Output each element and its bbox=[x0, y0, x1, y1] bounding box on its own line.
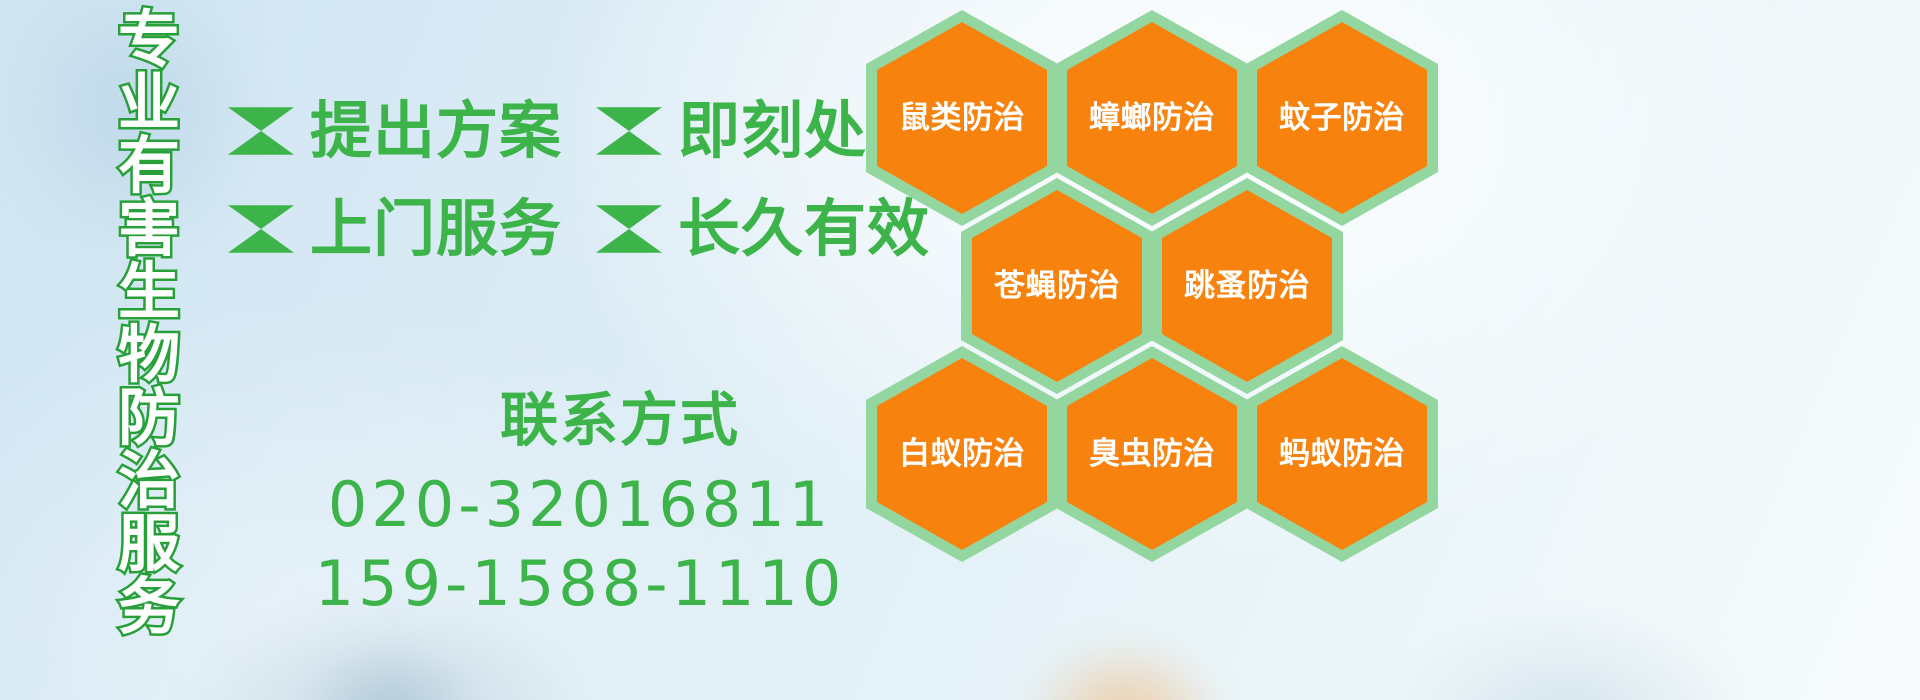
vertical-headline-char-9: 服 bbox=[118, 512, 180, 575]
vertical-headline-char-7: 防 bbox=[118, 386, 180, 449]
feature-row-2: 上门服务 长久有效 bbox=[228, 180, 868, 278]
hex-label: 蚂蚁防治 bbox=[1279, 439, 1405, 470]
feature-label: 提出方案 bbox=[310, 100, 562, 162]
service-honeycomb: 鼠类防治 蟑螂防治 蚊子防治 苍蝇防治 跳蚤防治 bbox=[862, 0, 1462, 700]
hex-cell-bedbug[interactable]: 臭虫防治 bbox=[1056, 346, 1248, 562]
feature-list: 提出方案 即刻处理 上门服务 长久有效 bbox=[228, 82, 868, 278]
hex-label: 鼠类防治 bbox=[899, 103, 1025, 134]
vertical-headline-char-3: 有 bbox=[118, 134, 180, 197]
hex-label: 苍蝇防治 bbox=[994, 271, 1120, 302]
hex-label: 蚊子防治 bbox=[1279, 103, 1405, 134]
contact-block: 联系方式 020-32016811 159-1588-1110 bbox=[300, 390, 860, 624]
diamond-bullet-icon bbox=[228, 107, 294, 155]
hex-label: 臭虫防治 bbox=[1089, 439, 1215, 470]
feature-item-proposal: 提出方案 bbox=[228, 98, 562, 164]
background-haze-bottom-left-2 bbox=[300, 640, 480, 700]
diamond-bullet-icon bbox=[596, 205, 662, 253]
hex-cell-ant[interactable]: 蚂蚁防治 bbox=[1246, 346, 1438, 562]
contact-title: 联系方式 bbox=[380, 390, 860, 451]
diamond-bullet-icon bbox=[596, 107, 662, 155]
hex-label: 白蚁防治 bbox=[899, 439, 1025, 470]
diamond-bullet-icon bbox=[228, 205, 294, 253]
phone-landline[interactable]: 020-32016811 bbox=[300, 465, 860, 544]
vertical-headline-char-10: 务 bbox=[118, 575, 180, 638]
feature-item-onsite-service: 上门服务 bbox=[228, 196, 562, 262]
vertical-headline: 专 业 有 害 生 物 防 治 服 务 bbox=[106, 8, 192, 568]
hex-label: 蟑螂防治 bbox=[1089, 103, 1215, 134]
vertical-headline-char-4: 害 bbox=[118, 197, 180, 260]
pest-control-banner: 专 业 有 害 生 物 防 治 服 务 提出方案 即刻处理 上门服务 bbox=[0, 0, 1920, 700]
phone-mobile[interactable]: 159-1588-1110 bbox=[300, 544, 860, 623]
feature-label: 上门服务 bbox=[310, 198, 562, 260]
vertical-headline-char-5: 生 bbox=[118, 260, 180, 323]
vertical-headline-char-8: 治 bbox=[118, 449, 180, 512]
vertical-headline-char-1: 专 bbox=[118, 8, 180, 71]
feature-row-1: 提出方案 即刻处理 bbox=[228, 82, 868, 180]
vertical-headline-char-6: 物 bbox=[118, 323, 180, 386]
hex-cell-termite[interactable]: 白蚁防治 bbox=[866, 346, 1058, 562]
vertical-headline-char-2: 业 bbox=[118, 71, 180, 134]
hex-label: 跳蚤防治 bbox=[1184, 271, 1310, 302]
